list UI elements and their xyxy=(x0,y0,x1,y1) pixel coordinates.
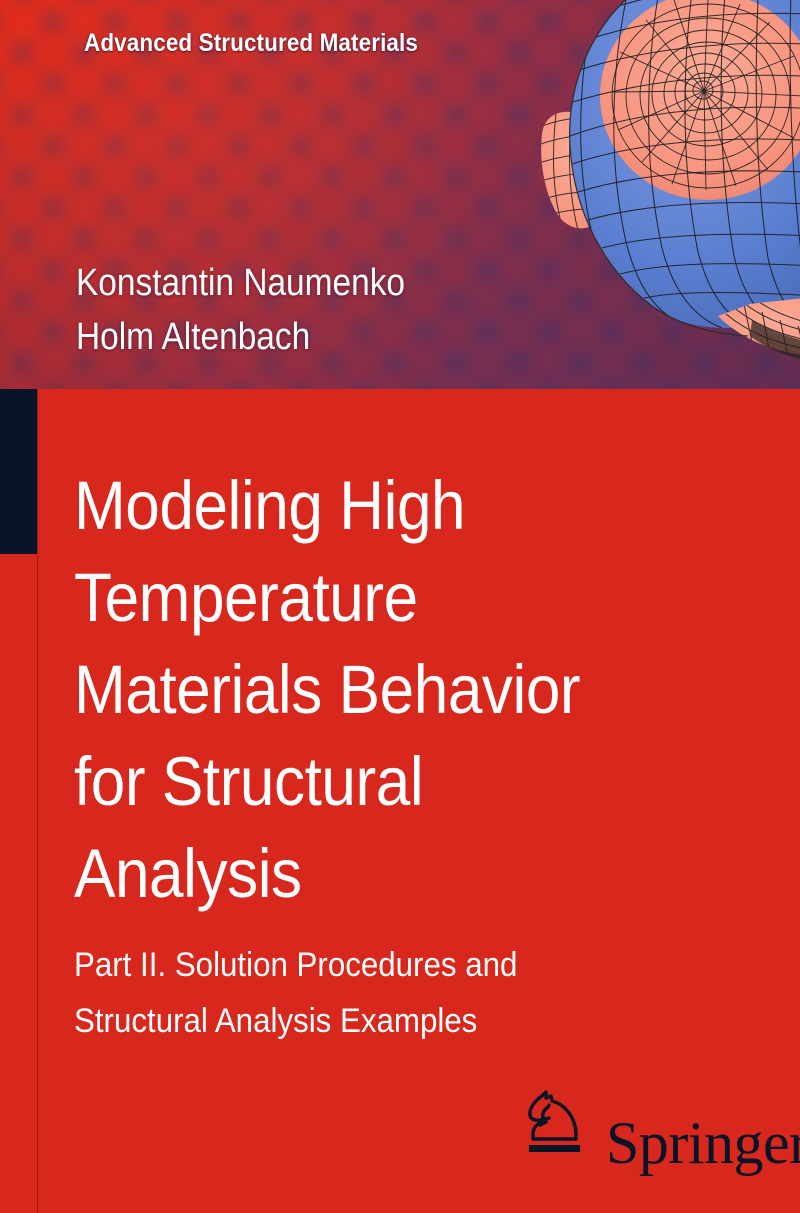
spine-color-block xyxy=(0,389,37,554)
publisher-name: Springer xyxy=(606,1113,800,1173)
author-name: Konstantin Naumenko xyxy=(76,256,405,310)
springer-knight-icon xyxy=(518,1085,592,1166)
spine-fold-line xyxy=(37,389,38,1213)
subtitle-line: Structural Analysis Examples xyxy=(74,993,681,1049)
publisher-logo: Springer xyxy=(518,1085,800,1166)
title-line: Analysis xyxy=(74,828,668,920)
cover-banner-artwork: Advanced Structured Materials Konstantin… xyxy=(0,0,800,389)
book-subtitle: Part II. Solution Procedures and Structu… xyxy=(74,937,681,1049)
book-cover: Advanced Structured Materials Konstantin… xyxy=(0,0,800,1213)
title-line: Modeling High xyxy=(74,460,668,552)
title-line: Temperature xyxy=(74,552,668,644)
series-title: Advanced Structured Materials xyxy=(84,29,418,58)
author-name: Holm Altenbach xyxy=(76,310,405,364)
subtitle-line: Part II. Solution Procedures and xyxy=(74,937,681,993)
title-line: for Structural xyxy=(74,736,668,828)
title-line: Materials Behavior xyxy=(74,644,668,736)
book-title: Modeling High Temperature Materials Beha… xyxy=(74,460,668,920)
author-list: Konstantin Naumenko Holm Altenbach xyxy=(76,256,405,364)
finite-element-mesh-icon xyxy=(500,0,800,389)
